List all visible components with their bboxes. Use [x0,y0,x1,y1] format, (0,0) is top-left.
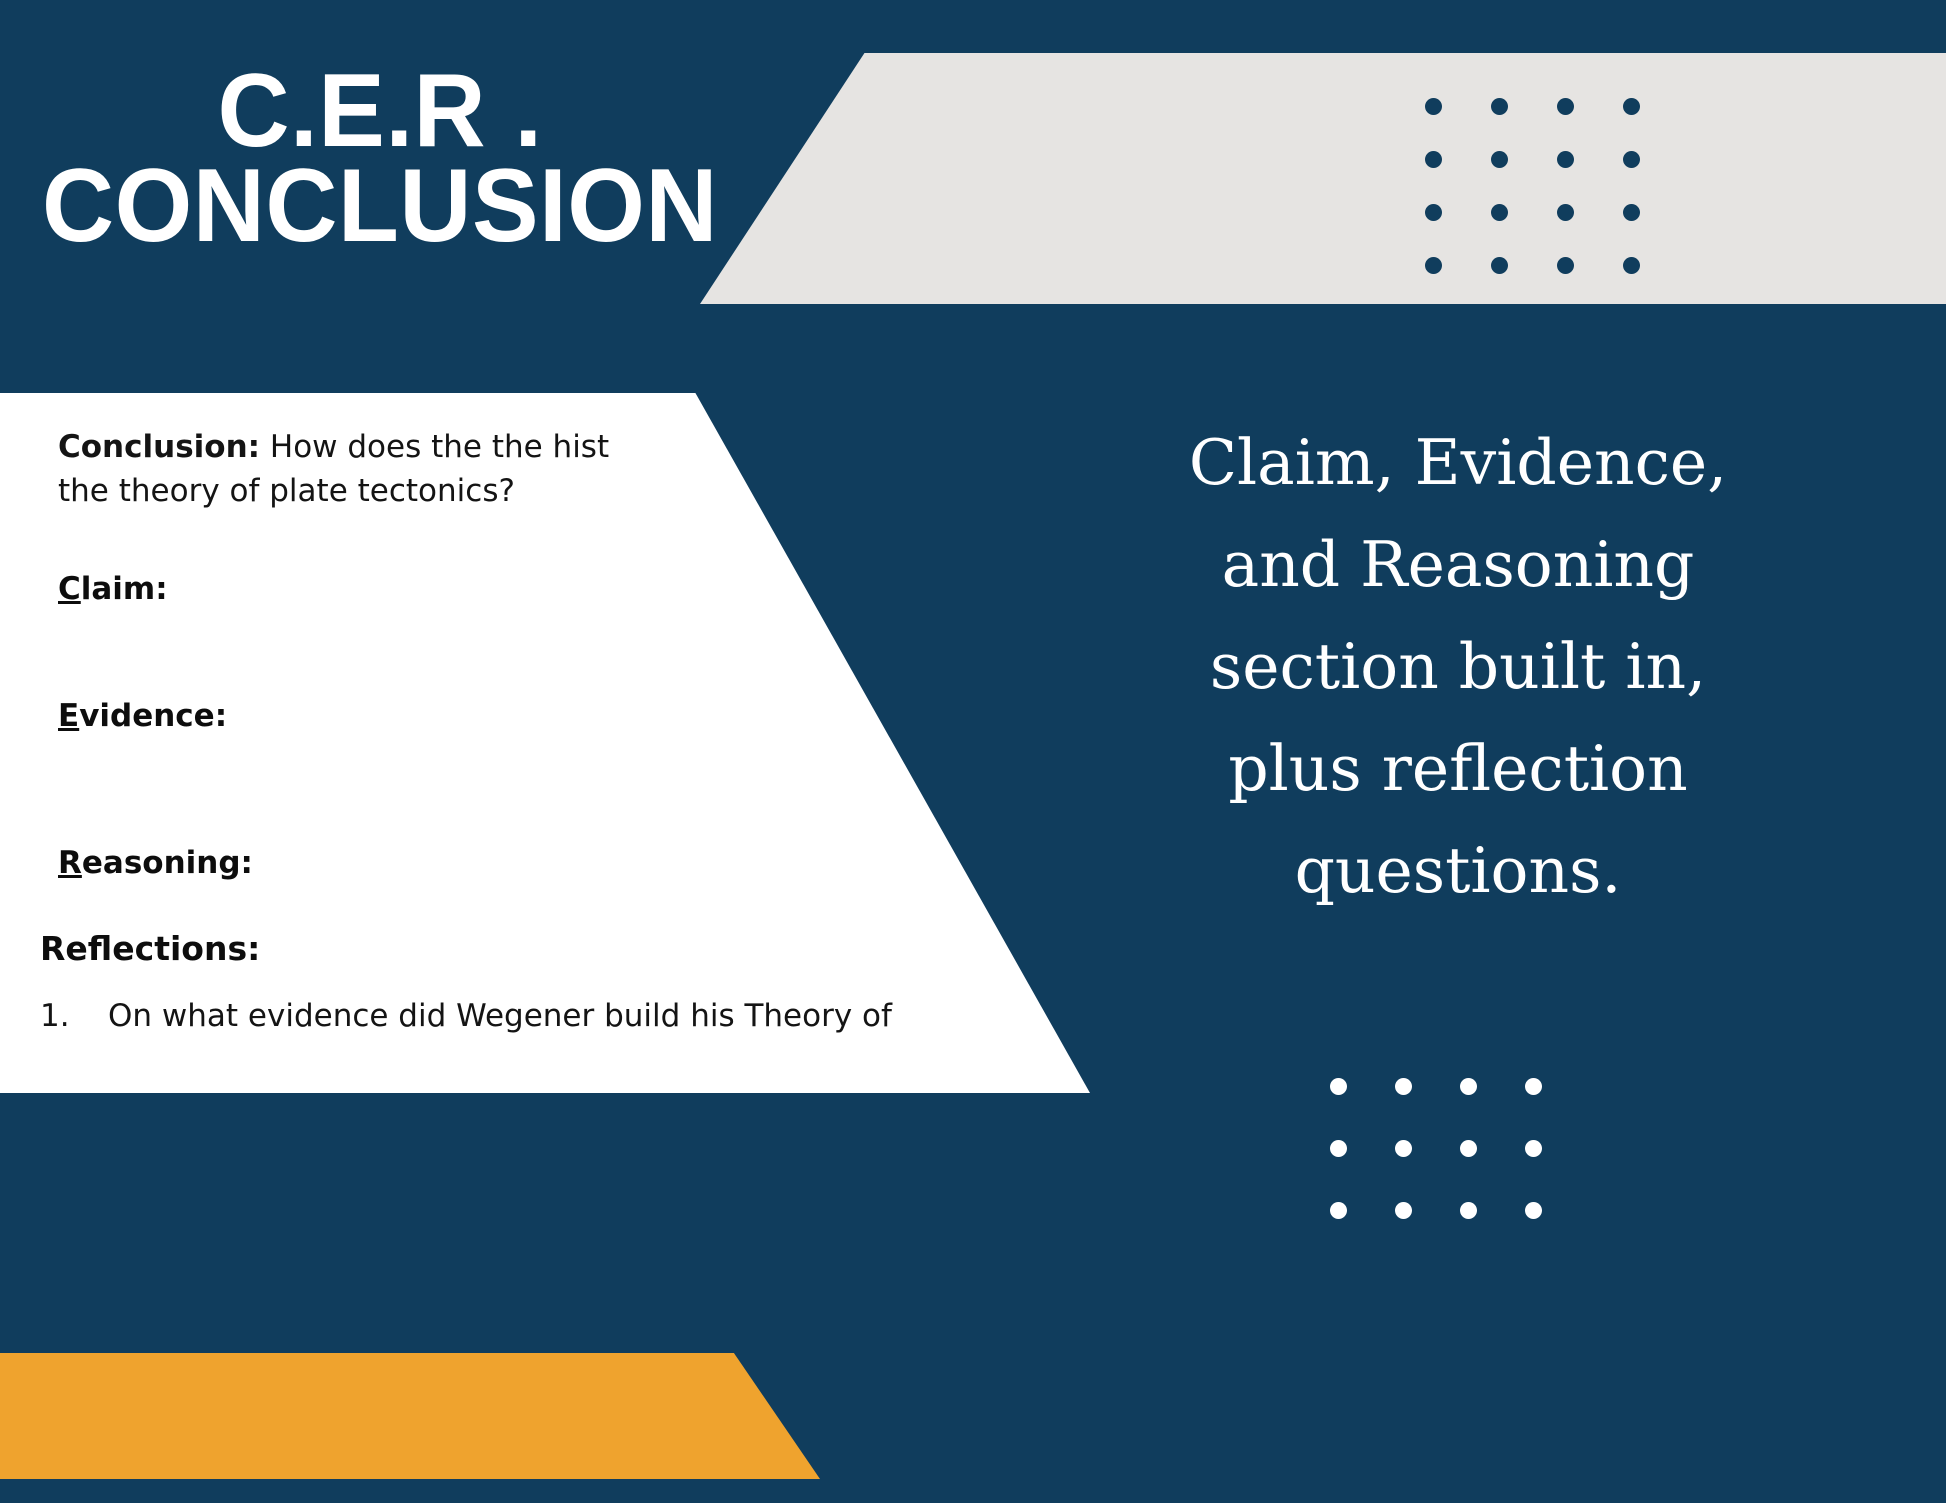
dot [1525,1078,1542,1095]
dot [1623,257,1640,274]
conclusion-question-text-1: How does the the hist [260,429,609,465]
caption-line-3: section built in, [970,616,1946,718]
dot [1460,1202,1477,1219]
dot [1525,1202,1542,1219]
reflection-item-number: 1. [40,998,108,1034]
evidence-rest: vidence: [79,698,227,734]
claim-initial: C [58,571,81,607]
top-dot-grid [1425,98,1689,310]
worksheet-reflection-item: 1. On what evidence did Wegener build hi… [40,998,892,1034]
dot [1525,1140,1542,1157]
dot [1425,151,1442,168]
caption-line-1: Claim, Evidence, [970,412,1946,514]
worksheet-evidence-label: Evidence: [58,698,227,734]
dot [1623,98,1640,115]
dot [1623,204,1640,221]
dot [1330,1078,1347,1095]
evidence-initial: E [58,698,79,734]
dot [1491,98,1508,115]
reflection-item-text: On what evidence did Wegener build his T… [108,998,892,1034]
dot [1330,1202,1347,1219]
dot [1491,204,1508,221]
dot [1491,257,1508,274]
worksheet-claim-label: Claim: [58,571,168,607]
caption-line-4: plus reflection [970,718,1946,820]
worksheet-reasoning-label: Reasoning: [58,845,253,881]
conclusion-label: Conclusion: [58,429,260,465]
dot [1460,1078,1477,1095]
orange-accent-band [0,1353,820,1479]
reasoning-initial: R [58,845,82,881]
dot [1557,151,1574,168]
dot [1425,204,1442,221]
dot [1491,151,1508,168]
dot [1395,1202,1412,1219]
title-line-2: CONCLUSION [15,157,745,256]
dot [1330,1140,1347,1157]
dot [1395,1078,1412,1095]
worksheet-preview-panel: Conclusion: How does the the hist the th… [0,393,1090,1093]
slide-caption: Claim, Evidence, and Reasoning section b… [970,412,1946,922]
conclusion-question-line-1: Conclusion: How does the the hist [58,425,1068,469]
dot [1557,98,1574,115]
worksheet-conclusion-block: Conclusion: How does the the hist the th… [58,425,1068,513]
conclusion-question-line-2: the theory of plate tectonics? [58,469,1068,513]
dot [1460,1140,1477,1157]
caption-line-5: questions. [970,820,1946,922]
slide-canvas: C.E.R . CONCLUSION Conclusion: How does … [0,0,1946,1503]
claim-rest: laim: [81,571,168,607]
dot [1623,151,1640,168]
dot [1395,1140,1412,1157]
dot [1425,98,1442,115]
dot [1557,204,1574,221]
worksheet-reflections-heading: Reflections: [40,929,260,968]
dot [1425,257,1442,274]
slide-title: C.E.R . CONCLUSION [0,62,760,256]
title-line-1: C.E.R . [15,62,745,161]
dot [1557,257,1574,274]
bottom-dot-grid [1330,1078,1590,1264]
gray-accent-band [700,53,1946,304]
reasoning-rest: easoning: [82,845,253,881]
caption-line-2: and Reasoning [970,514,1946,616]
